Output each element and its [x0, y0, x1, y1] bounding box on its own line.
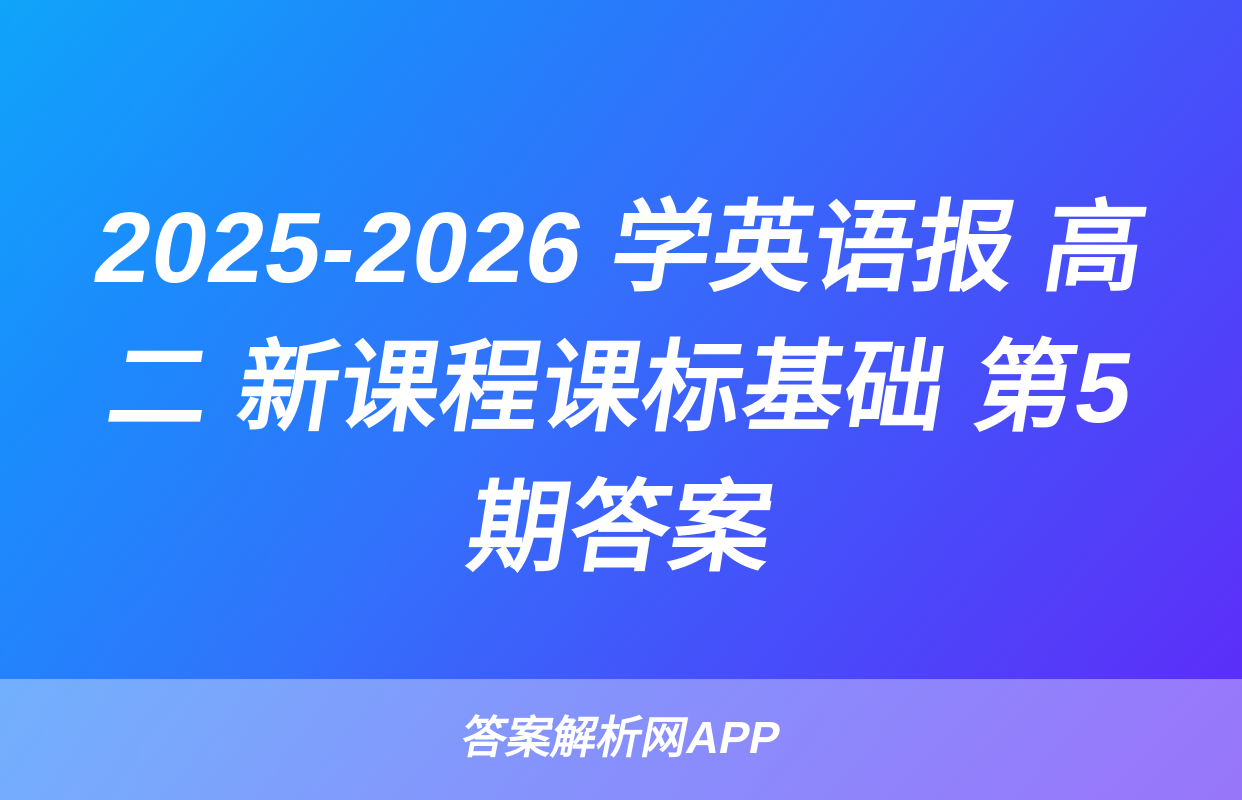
title-line-1: 2025-2026 学英语报 高 — [13, 178, 1229, 318]
footer-brand-bar: 答案解析网APP — [0, 679, 1242, 800]
title-line-3: 期答案 — [13, 458, 1229, 598]
poster-title: 2025-2026 学英语报 高 二 新课程课标基础 第5 期答案 — [0, 178, 1242, 598]
footer-brand-label: 答案解析网APP — [458, 715, 784, 760]
poster-canvas: 2025-2026 学英语报 高 二 新课程课标基础 第5 期答案 答案解析网A… — [0, 0, 1242, 800]
title-line-2: 二 新课程课标基础 第5 — [13, 318, 1229, 458]
